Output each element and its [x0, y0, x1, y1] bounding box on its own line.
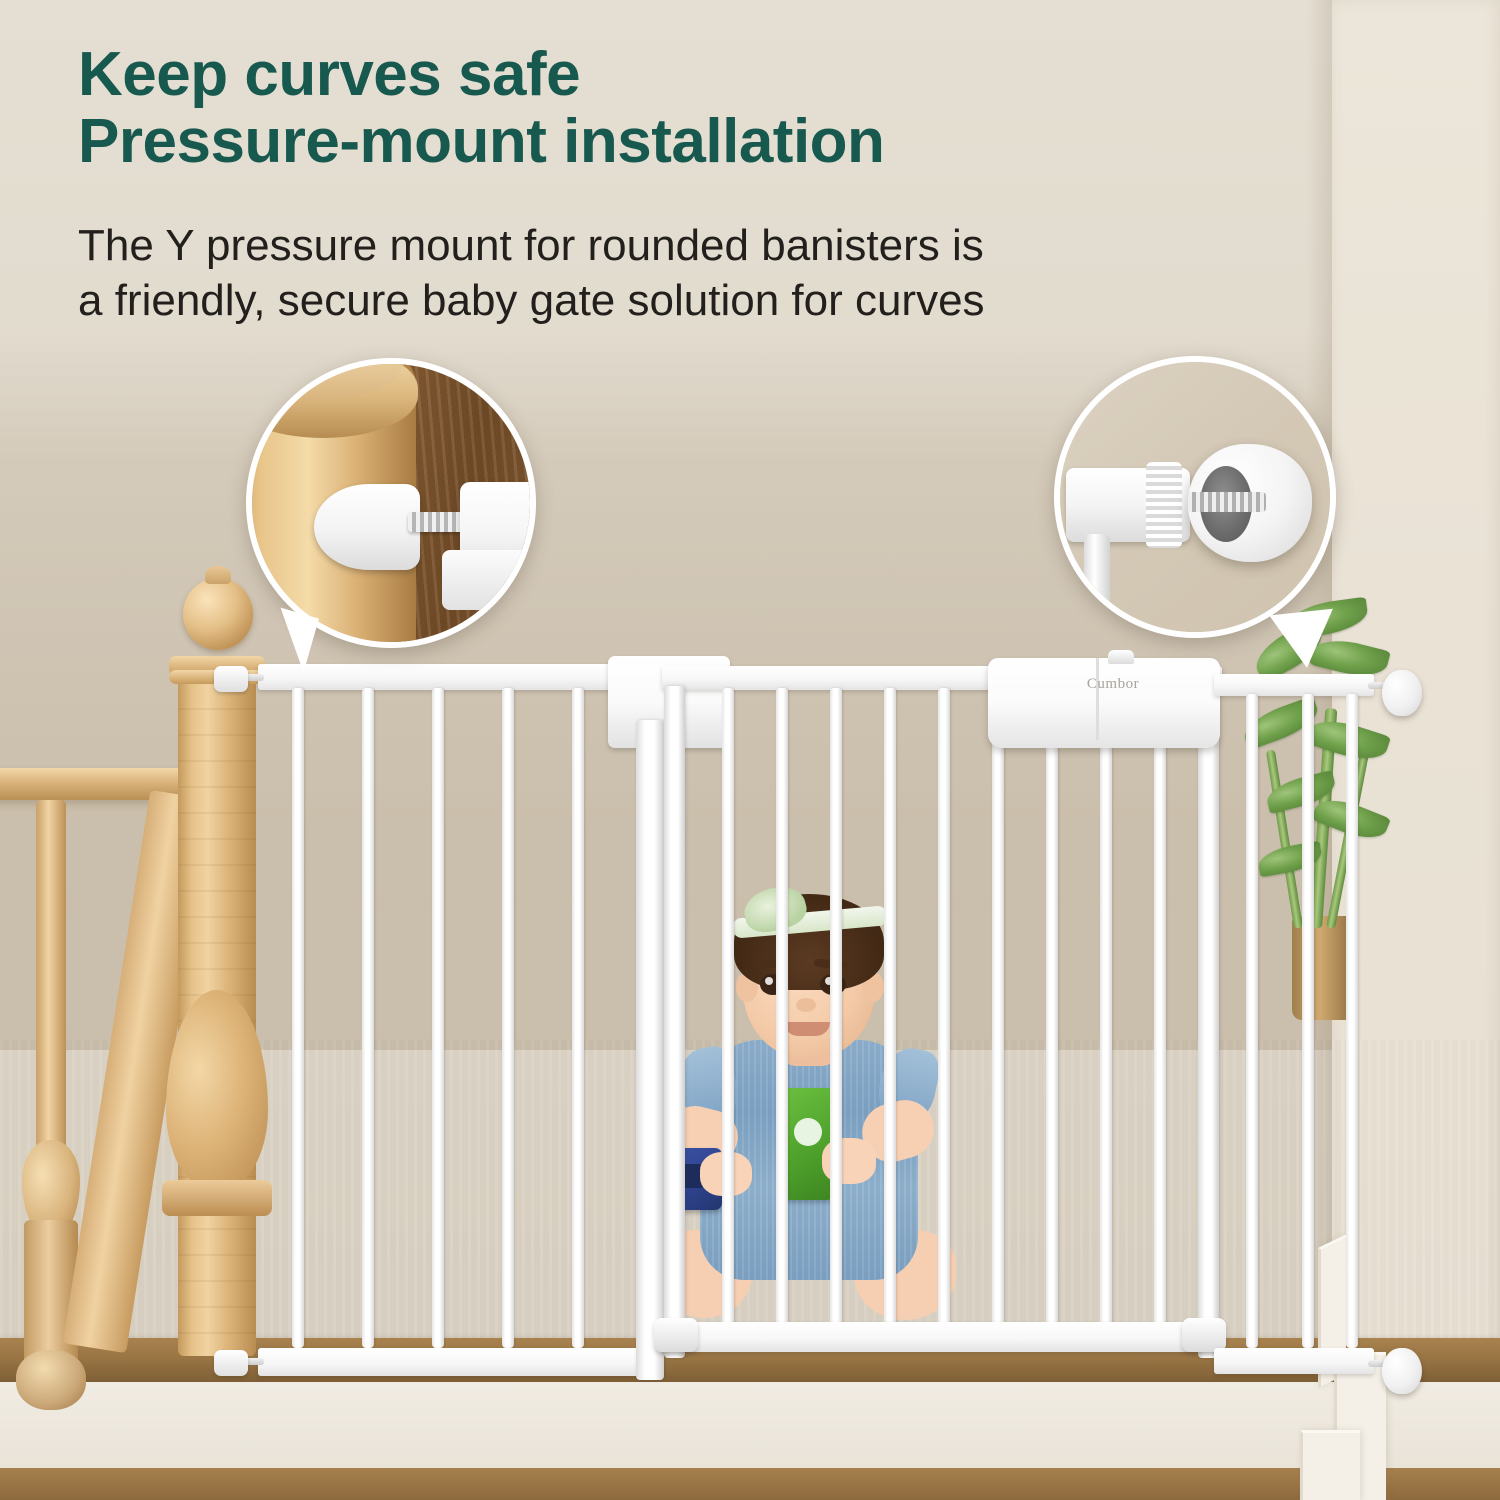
- callout-right-wall-mount: [1054, 356, 1336, 638]
- callout-right-pointer: [1269, 609, 1339, 671]
- gate-left-bottom-pressure-screw[interactable]: [214, 1350, 248, 1376]
- newel-ball-finial: [183, 578, 253, 650]
- gate-bar: [432, 688, 444, 1348]
- page-headline: Keep curves safe Pressure-mount installa…: [78, 42, 1378, 176]
- subheadline-line-2: a friendly, secure baby gate solution fo…: [78, 273, 1338, 328]
- callout-left-y-mount: [246, 358, 536, 648]
- gate-bar: [1046, 688, 1058, 1328]
- gate-door-foot-left: [654, 1318, 698, 1352]
- gate-bar: [1154, 688, 1166, 1328]
- gate-right-panel-bottom-rail: [1214, 1348, 1374, 1374]
- gate-door-bottom-rail: [662, 1322, 1222, 1352]
- gate-bar: [1246, 694, 1258, 1348]
- gate-bar: [1346, 694, 1358, 1348]
- gate-latch-seam: [1096, 658, 1099, 740]
- stair-tread-lower: [0, 1468, 1500, 1500]
- gate-bar: [572, 688, 584, 1348]
- gate-right-panel-top-rail: [1214, 674, 1374, 696]
- gate-hinge-post: [636, 720, 664, 1380]
- callout-gate-frame-lower: [442, 550, 536, 610]
- gate-bar: [830, 688, 842, 1328]
- gate-left-panel-top-rail: [258, 664, 662, 690]
- newel-finial-tip: [205, 566, 231, 584]
- subheadline-line-1: The Y pressure mount for rounded baniste…: [78, 221, 984, 270]
- banister-spindle-base: [16, 1350, 86, 1410]
- gate-latch-housing[interactable]: [988, 658, 1220, 748]
- gate-bar: [292, 688, 304, 1348]
- gate-right-wall-cup-bottom[interactable]: [1382, 1348, 1422, 1394]
- gate-bar: [992, 688, 1004, 1328]
- gate-door-foot-right: [1182, 1318, 1226, 1352]
- baby-gate[interactable]: Cumbor: [236, 660, 1368, 1380]
- gate-bar: [362, 688, 374, 1348]
- y-mount-bracket-icon: [314, 484, 420, 570]
- headline-line-2: Pressure-mount installation: [78, 109, 1378, 176]
- gate-bar: [722, 688, 734, 1328]
- gate-latch-release-button[interactable]: [1108, 650, 1134, 664]
- callout-knurled-adjuster: [1146, 462, 1182, 548]
- gate-bar: [776, 688, 788, 1328]
- gate-door-post-right: [1198, 686, 1219, 1358]
- wall-mount-threaded-bolt-icon: [1188, 492, 1266, 512]
- page-subheadline: The Y pressure mount for rounded baniste…: [78, 218, 1338, 329]
- gate-bar: [1100, 688, 1112, 1328]
- skirting-board-step: [1300, 1430, 1360, 1500]
- gate-bar: [502, 688, 514, 1348]
- brand-logo: Cumbor: [1058, 676, 1168, 693]
- gate-left-panel-bottom-rail: [258, 1348, 662, 1376]
- gate-bar: [938, 688, 950, 1328]
- gate-bar: [884, 688, 896, 1328]
- gate-door-post-left: [664, 686, 685, 1358]
- gate-bar: [1302, 694, 1314, 1348]
- banister-spindle: [36, 800, 66, 1170]
- headline-line-1: Keep curves safe: [78, 40, 580, 109]
- product-marketing-image: Cumbor Keep c: [0, 0, 1500, 1500]
- gate-right-wall-cup-top[interactable]: [1382, 670, 1422, 716]
- gate-left-pressure-screw[interactable]: [214, 666, 248, 692]
- callout-gate-tube: [1084, 534, 1110, 638]
